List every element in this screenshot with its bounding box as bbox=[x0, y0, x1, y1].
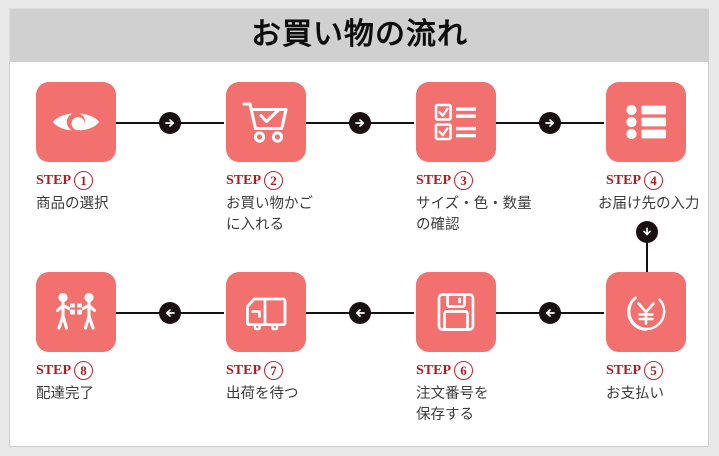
step-item-7[interactable]: STEP 7 出荷を待つ bbox=[226, 272, 376, 405]
step-number: 4 bbox=[644, 171, 663, 190]
step-4-description: お届け先の入力 bbox=[598, 194, 719, 215]
step-5-icon-tile bbox=[606, 272, 686, 352]
step-2-label: STEP 2 bbox=[226, 171, 376, 190]
shopping-flow-page: お買い物の流れ bbox=[0, 0, 719, 456]
shopping-cart-check-icon bbox=[239, 95, 293, 149]
arrow-down-icon bbox=[641, 226, 653, 238]
delivery-truck-icon bbox=[239, 285, 293, 339]
step-item-4[interactable]: STEP 4 お届け先の入力 bbox=[606, 82, 719, 215]
handover-package-icon bbox=[49, 285, 103, 339]
step-word: STEP bbox=[416, 174, 451, 188]
step-word: STEP bbox=[226, 364, 261, 378]
page-header: お買い物の流れ bbox=[9, 8, 709, 62]
step-6-label: STEP 6 bbox=[416, 361, 566, 380]
step-5-description: お支払い bbox=[606, 384, 719, 405]
step-number: 1 bbox=[74, 171, 93, 190]
floppy-disk-save-icon bbox=[429, 285, 483, 339]
bullet-list-icon bbox=[619, 95, 673, 149]
step-item-1[interactable]: STEP 1 商品の選択 bbox=[36, 82, 186, 215]
step-number: 6 bbox=[454, 361, 473, 380]
step-word: STEP bbox=[606, 174, 641, 188]
step-6-icon-tile bbox=[416, 272, 496, 352]
step-word: STEP bbox=[36, 174, 71, 188]
step-number: 7 bbox=[264, 361, 283, 380]
step-word: STEP bbox=[416, 364, 451, 378]
step-2-description: お買い物かご に入れる bbox=[226, 194, 376, 236]
step-4-icon-tile bbox=[606, 82, 686, 162]
step-item-5[interactable]: STEP 5 お支払い bbox=[606, 272, 719, 405]
step-2-icon-tile bbox=[226, 82, 306, 162]
step-word: STEP bbox=[226, 174, 261, 188]
flow-panel: STEP 1 商品の選択 STEP 2 お買い物かご に入れる bbox=[9, 62, 709, 447]
step-1-label: STEP 1 bbox=[36, 171, 186, 190]
step-3-icon-tile bbox=[416, 82, 496, 162]
step-8-icon-tile bbox=[36, 272, 116, 352]
step-4-label: STEP 4 bbox=[606, 171, 719, 190]
checklist-icon bbox=[429, 95, 483, 149]
step-number: 2 bbox=[264, 171, 283, 190]
step-8-description: 配達完了 bbox=[36, 384, 186, 405]
step-8-label: STEP 8 bbox=[36, 361, 186, 380]
step-number: 8 bbox=[74, 361, 93, 380]
page-title: お買い物の流れ bbox=[251, 20, 468, 52]
step-item-2[interactable]: STEP 2 お買い物かご に入れる bbox=[226, 82, 376, 236]
step-7-icon-tile bbox=[226, 272, 306, 352]
step-item-8[interactable]: STEP 8 配達完了 bbox=[36, 272, 186, 405]
step-5-label: STEP 5 bbox=[606, 361, 719, 380]
step-6-description: 注文番号を 保存する bbox=[416, 384, 566, 426]
step-item-6[interactable]: STEP 6 注文番号を 保存する bbox=[416, 272, 566, 426]
step-word: STEP bbox=[606, 364, 641, 378]
eye-icon bbox=[49, 95, 103, 149]
step-item-3[interactable]: STEP 3 サイズ・色・数量 の確認 bbox=[416, 82, 566, 236]
step-7-label: STEP 7 bbox=[226, 361, 376, 380]
step-1-description: 商品の選択 bbox=[36, 194, 186, 215]
step-number: 3 bbox=[454, 171, 473, 190]
step-7-description: 出荷を待つ bbox=[226, 384, 376, 405]
step-3-description: サイズ・色・数量 の確認 bbox=[416, 194, 566, 236]
step-1-icon-tile bbox=[36, 82, 116, 162]
yen-coin-icon bbox=[619, 285, 673, 339]
step-3-label: STEP 3 bbox=[416, 171, 566, 190]
step-word: STEP bbox=[36, 364, 71, 378]
step-number: 5 bbox=[644, 361, 663, 380]
arrow-step4-to-step5 bbox=[636, 221, 658, 243]
